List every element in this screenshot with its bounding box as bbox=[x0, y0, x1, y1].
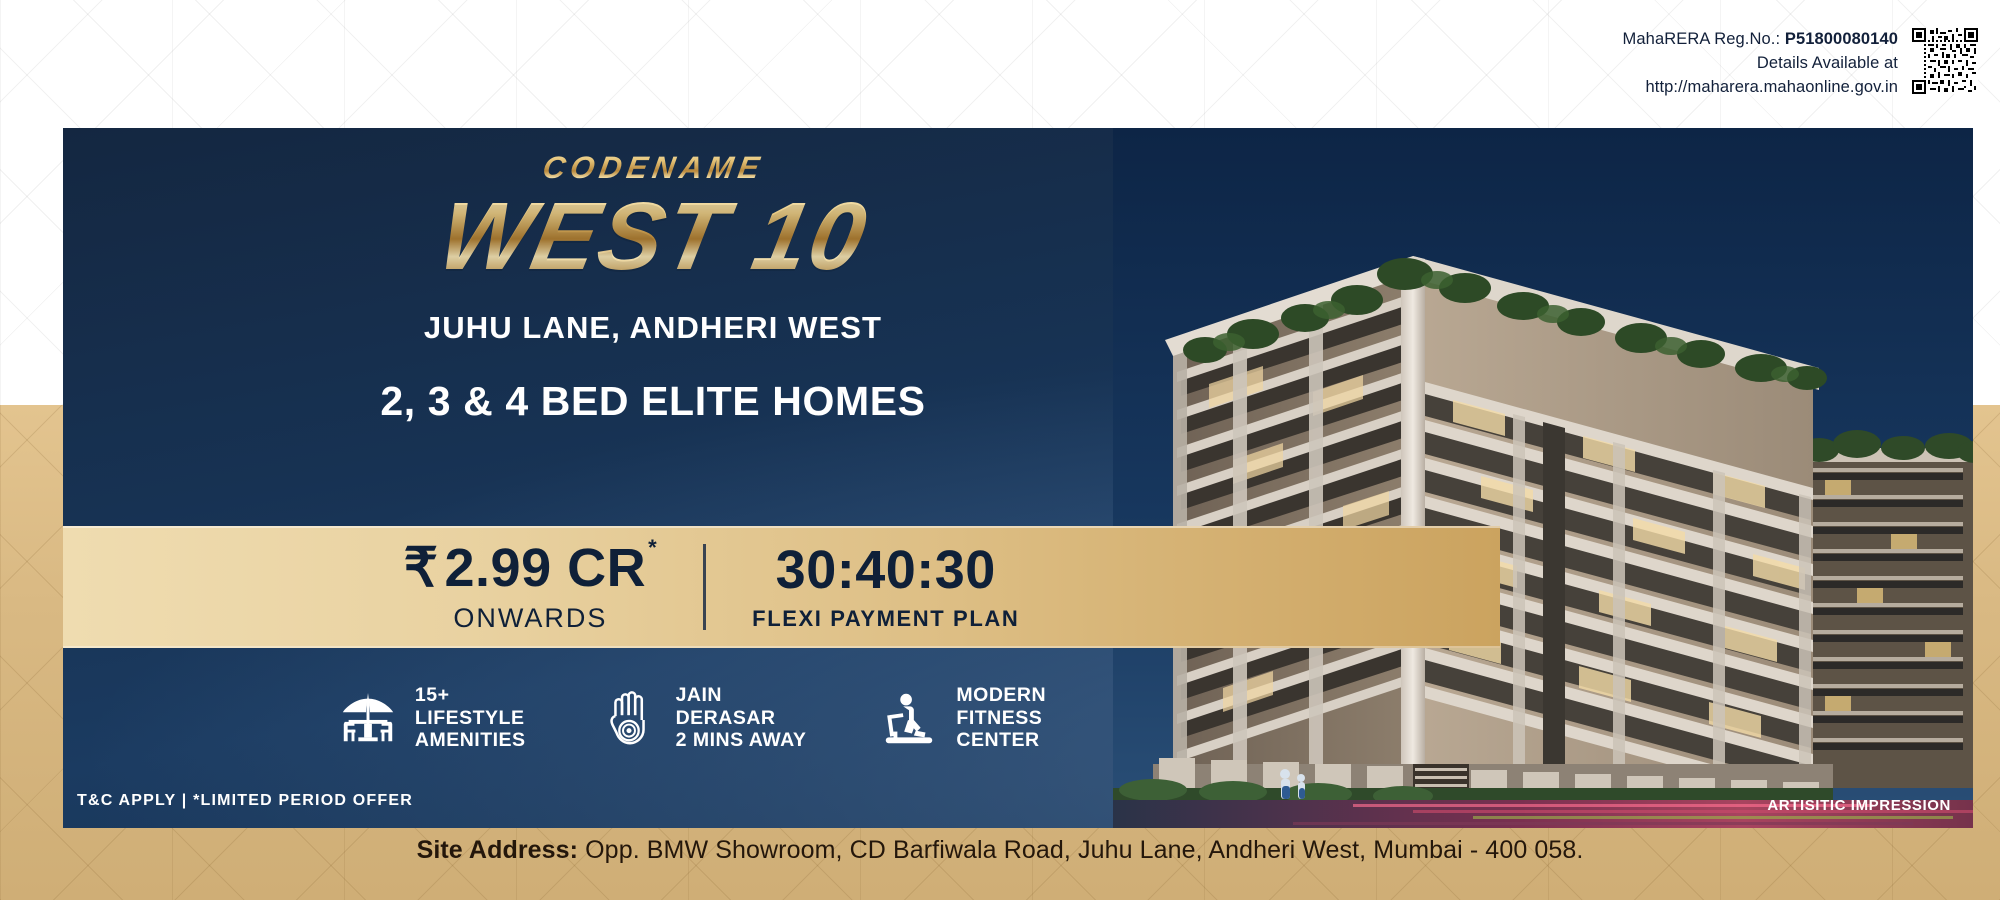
rera-details-line: Details Available at bbox=[1623, 52, 1898, 76]
site-address-value: Opp. BMW Showroom, CD Barfiwala Road, Ju… bbox=[585, 836, 1583, 864]
site-address-label: Site Address: bbox=[417, 836, 579, 864]
jain-hand-icon bbox=[598, 687, 660, 749]
payment-plan-ratio: 30:40:30 bbox=[752, 543, 1019, 597]
codename-label: CODENAME bbox=[540, 150, 767, 186]
amenity-label: MODERN FITNESS CENTER bbox=[956, 684, 1046, 752]
project-configuration: 2, 3 & 4 BED ELITE HOMES bbox=[380, 378, 925, 425]
price-divider bbox=[703, 544, 706, 630]
price-amount: 2.99 CR bbox=[445, 541, 647, 595]
amenity-item: JAIN DERASAR 2 MINS AWAY bbox=[598, 684, 807, 752]
price-asterisk: * bbox=[648, 537, 657, 559]
amenity-label: 15+ LIFESTYLE AMENITIES bbox=[415, 684, 526, 752]
price-amount-row: ₹ 2.99 CR * bbox=[404, 541, 658, 595]
rupee-symbol-icon: ₹ bbox=[404, 541, 439, 595]
payment-plan-cell: 30:40:30 FLEXI PAYMENT PLAN bbox=[752, 543, 1019, 632]
terms-and-conditions: T&C APPLY | *LIMITED PERIOD OFFER bbox=[77, 792, 413, 810]
rera-url[interactable]: http://maharera.mahaonline.gov.in bbox=[1623, 76, 1898, 100]
project-name: WEST 10 bbox=[431, 188, 875, 286]
amenity-item: MODERN FITNESS CENTER bbox=[878, 684, 1046, 752]
amenities-row: 15+ LIFESTYLE AMENITIES JAIN DERASAR 2 M… bbox=[63, 648, 1410, 788]
patio-umbrella-icon bbox=[337, 687, 399, 749]
promo-banner: CODENAME WEST 10 JUHU LANE, ANDHERI WEST… bbox=[63, 128, 1973, 828]
price-onwards-label: ONWARDS bbox=[404, 603, 658, 634]
treadmill-icon bbox=[878, 687, 940, 749]
rera-text: MahaRERA Reg.No.: P51800080140 Details A… bbox=[1623, 28, 1898, 100]
rera-reg-number: P51800080140 bbox=[1785, 30, 1898, 48]
artistic-impression-label: ARTISITIC IMPRESSION bbox=[1767, 797, 1951, 814]
price-band: ₹ 2.99 CR * ONWARDS 30:40:30 FLEXI PAYME… bbox=[63, 526, 1500, 648]
qr-code[interactable] bbox=[1912, 28, 1978, 94]
price-cell: ₹ 2.99 CR * ONWARDS bbox=[404, 541, 658, 634]
rera-block: MahaRERA Reg.No.: P51800080140 Details A… bbox=[1623, 28, 1978, 100]
site-address: Site Address: Opp. BMW Showroom, CD Barf… bbox=[0, 836, 2000, 865]
project-location: JUHU LANE, ANDHERI WEST bbox=[424, 310, 882, 346]
amenity-item: 15+ LIFESTYLE AMENITIES bbox=[337, 684, 526, 752]
rera-reg-label: MahaRERA Reg.No.: bbox=[1623, 30, 1781, 48]
amenity-label: JAIN DERASAR 2 MINS AWAY bbox=[676, 684, 807, 752]
hero-text-column: CODENAME WEST 10 JUHU LANE, ANDHERI WEST… bbox=[63, 128, 1243, 528]
rera-reg-line: MahaRERA Reg.No.: P51800080140 bbox=[1623, 28, 1898, 52]
payment-plan-label: FLEXI PAYMENT PLAN bbox=[752, 606, 1019, 632]
